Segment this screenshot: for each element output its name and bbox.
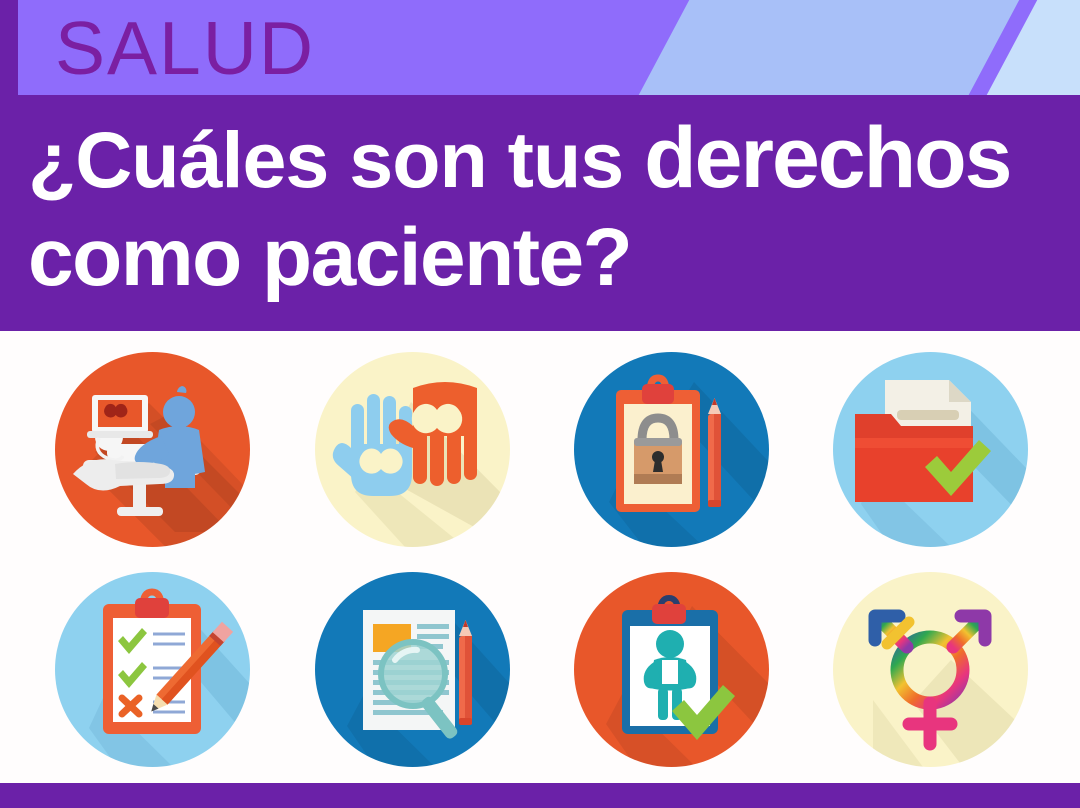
- icon-caring-hands-hearts: [315, 352, 510, 547]
- icon-patient-consent-clipboard: [574, 572, 769, 767]
- icon-folder-document-check: [833, 352, 1028, 547]
- page-title: ¿Cuáles son tus derechos como paciente?: [28, 109, 1068, 307]
- icon-disc: [574, 352, 769, 547]
- icon-disc: [315, 572, 510, 767]
- footer-bar: [0, 783, 1080, 808]
- eyebrow-left-edge: [0, 0, 18, 95]
- diagonal-stripe-light-blue: [615, 0, 1035, 95]
- icon-disc: [55, 572, 250, 767]
- icon-checklist-pencil: [55, 572, 250, 767]
- folder-document-check-icon: [833, 352, 1028, 547]
- category-label: SALUD: [55, 4, 315, 92]
- headline-line-1-plain: ¿Cuáles son tus: [28, 115, 644, 204]
- icon-disc: [833, 572, 1028, 767]
- checklist-pencil-icon: [55, 572, 250, 767]
- icon-disc: [833, 352, 1028, 547]
- icon-grid: [0, 331, 1080, 783]
- headline-line-2: como paciente?: [28, 209, 1068, 307]
- gender-diversity-symbol-icon: [833, 572, 1028, 767]
- icon-gender-diversity-symbol: [833, 572, 1028, 767]
- icon-clipboard-padlock: [574, 352, 769, 547]
- icon-disc: [574, 572, 769, 767]
- clipboard-padlock-icon: [574, 352, 769, 547]
- patient-exam-table-icon: [55, 352, 250, 547]
- icon-disc: [315, 352, 510, 547]
- icon-patient-exam-table: [55, 352, 250, 547]
- headline-line-1: ¿Cuáles son tus derechos: [28, 109, 1068, 209]
- headline-emphasis: derechos: [644, 110, 1010, 206]
- infographic-poster: SALUD ¿Cuáles son tus derechos como paci…: [0, 0, 1080, 808]
- eyebrow-band: SALUD: [0, 0, 1080, 95]
- icon-document-magnifier: [315, 572, 510, 767]
- caring-hands-hearts-icon: [315, 352, 510, 547]
- icon-disc: [55, 352, 250, 547]
- headline-band: ¿Cuáles son tus derechos como paciente?: [0, 95, 1080, 331]
- document-magnifier-icon: [315, 572, 510, 767]
- patient-consent-clipboard-icon: [574, 572, 769, 767]
